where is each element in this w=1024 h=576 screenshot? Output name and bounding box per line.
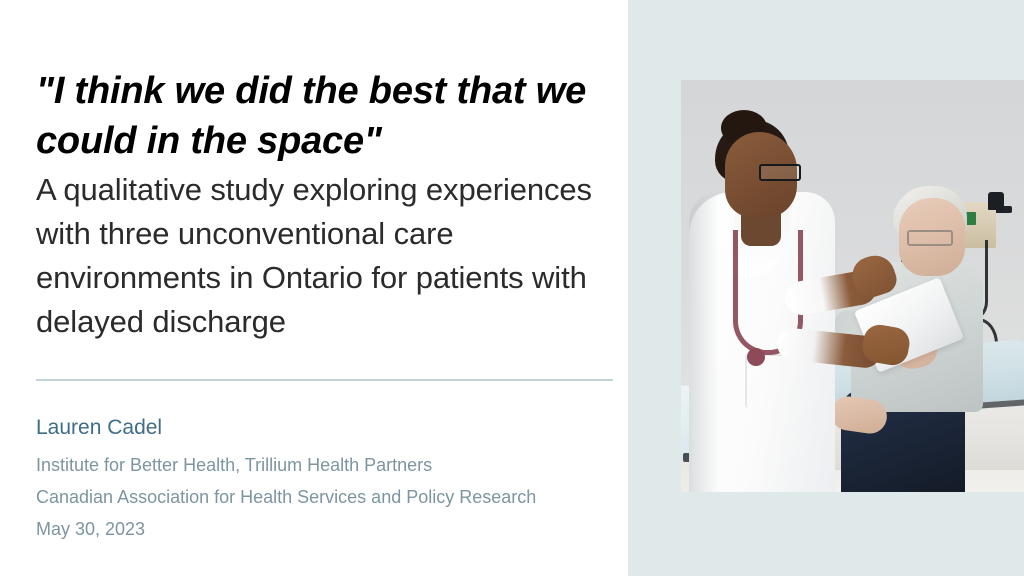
stethoscope-bell <box>747 348 765 366</box>
author-name: Lauren Cadel <box>36 414 162 442</box>
text-column: "I think we did the best that we could i… <box>36 0 616 576</box>
author-affiliation: Institute for Better Health, Trillium He… <box>36 452 432 478</box>
ophthalmoscope-head-icon <box>988 192 1004 210</box>
slide-quote: "I think we did the best that we could i… <box>36 66 616 166</box>
doctor-coat-shading <box>689 192 719 492</box>
title-slide: "I think we did the best that we could i… <box>0 0 1024 576</box>
horizontal-divider <box>36 379 613 381</box>
doctor-glasses-icon <box>759 164 801 181</box>
conference-name: Canadian Association for Health Services… <box>36 484 536 510</box>
patient-glasses-icon <box>907 230 953 246</box>
clinic-photo <box>681 80 1024 492</box>
slide-subtitle: A qualitative study exploring experience… <box>36 168 626 344</box>
presentation-date: May 30, 2023 <box>36 516 145 542</box>
